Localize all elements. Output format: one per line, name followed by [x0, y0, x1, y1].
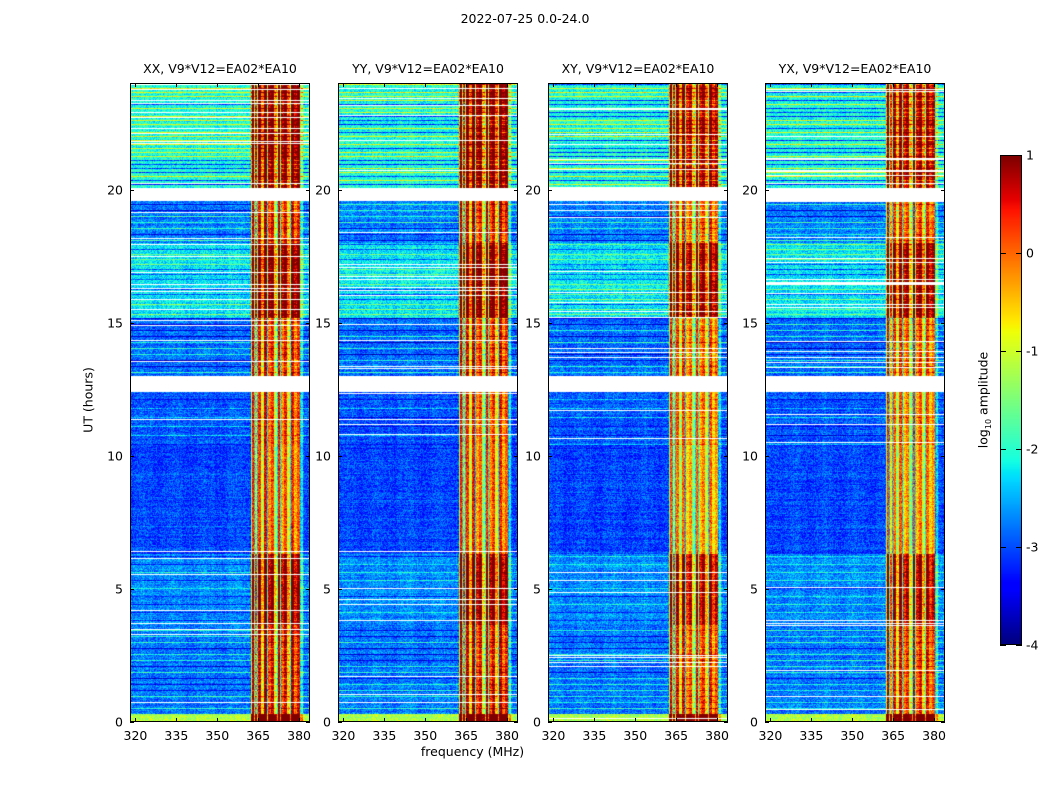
- colorbar-tick-mark: [1000, 155, 1006, 156]
- y-tick-mark: [514, 456, 518, 457]
- colorbar-tick-label: -3: [1026, 540, 1038, 555]
- y-tick-mark: [338, 456, 342, 457]
- x-tick-label: 350: [413, 722, 437, 743]
- x-tick-mark: [507, 83, 508, 87]
- colorbar[interactable]: [1000, 155, 1022, 645]
- colorbar-tick-mark: [1016, 155, 1022, 156]
- x-tick-mark: [466, 83, 467, 87]
- y-tick-label: 20: [315, 182, 338, 197]
- heatmap-image-yy: [339, 84, 517, 721]
- x-tick-mark: [852, 718, 853, 722]
- colorbar-tick-mark: [1016, 547, 1022, 548]
- y-tick-label: 10: [107, 448, 130, 463]
- x-tick-mark: [717, 718, 718, 722]
- x-tick-mark: [343, 718, 344, 722]
- y-tick-label: 20: [742, 182, 765, 197]
- y-tick-mark: [548, 589, 552, 590]
- y-tick-mark: [338, 323, 342, 324]
- y-tick-mark: [548, 323, 552, 324]
- y-tick-label: 10: [742, 448, 765, 463]
- heatmap-image-xx: [131, 84, 309, 721]
- spectrogram-panel-xx[interactable]: XX, V9*V12=EA02*EA1032033535036538005101…: [130, 83, 310, 722]
- colorbar-tick-label: -2: [1026, 442, 1038, 457]
- y-tick-mark: [724, 722, 728, 723]
- x-tick-label: 350: [840, 722, 864, 743]
- colorbar-tick-label: 1: [1026, 148, 1034, 163]
- y-tick-mark: [765, 190, 769, 191]
- y-tick-label: 15: [742, 315, 765, 330]
- x-tick-mark: [770, 718, 771, 722]
- panel-title-yx: YX, V9*V12=EA02*EA10: [765, 61, 945, 76]
- plot-area-xx[interactable]: [130, 83, 310, 722]
- x-tick-mark: [811, 83, 812, 87]
- y-tick-mark: [941, 456, 945, 457]
- colorbar-tick-label: -1: [1026, 344, 1038, 359]
- x-tick-mark: [934, 83, 935, 87]
- x-tick-mark: [893, 83, 894, 87]
- y-tick-mark: [548, 722, 552, 723]
- x-tick-mark: [299, 718, 300, 722]
- figure-suptitle: 2022-07-25 0.0-24.0: [0, 11, 1050, 26]
- x-tick-label: 380: [705, 722, 729, 743]
- y-tick-mark: [724, 589, 728, 590]
- x-tick-label: 365: [246, 722, 270, 743]
- y-tick-mark: [338, 589, 342, 590]
- x-tick-mark: [852, 83, 853, 87]
- y-tick-mark: [941, 589, 945, 590]
- plot-area-yx[interactable]: [765, 83, 945, 722]
- y-tick-label: 10: [525, 448, 548, 463]
- y-tick-label: 15: [315, 315, 338, 330]
- y-tick-mark: [941, 722, 945, 723]
- x-tick-mark: [343, 83, 344, 87]
- x-tick-mark: [717, 83, 718, 87]
- x-tick-label: 365: [664, 722, 688, 743]
- colorbar-label: log10 amplitude: [975, 352, 993, 448]
- y-tick-label: 5: [115, 581, 130, 596]
- x-tick-label: 335: [164, 722, 188, 743]
- y-tick-label: 20: [107, 182, 130, 197]
- spectrogram-panel-xy[interactable]: XY, V9*V12=EA02*EA1032033535036538005101…: [548, 83, 728, 722]
- y-tick-label: 0: [323, 715, 338, 730]
- x-tick-mark: [811, 718, 812, 722]
- x-tick-mark: [553, 83, 554, 87]
- y-tick-label: 10: [315, 448, 338, 463]
- y-tick-mark: [941, 323, 945, 324]
- heatmap-image-xy: [549, 84, 727, 721]
- x-tick-mark: [176, 83, 177, 87]
- colorbar-tick-mark: [1000, 645, 1006, 646]
- y-tick-label: 5: [323, 581, 338, 596]
- x-tick-mark: [635, 83, 636, 87]
- x-tick-mark: [425, 718, 426, 722]
- colorbar-tick-mark: [1000, 253, 1006, 254]
- y-tick-mark: [338, 722, 342, 723]
- y-tick-mark: [130, 323, 134, 324]
- x-tick-mark: [176, 718, 177, 722]
- y-tick-label: 5: [533, 581, 548, 596]
- y-tick-mark: [765, 589, 769, 590]
- y-tick-mark: [514, 722, 518, 723]
- y-tick-mark: [514, 323, 518, 324]
- panel-title-xx: XX, V9*V12=EA02*EA10: [130, 61, 310, 76]
- x-tick-mark: [676, 718, 677, 722]
- x-tick-mark: [893, 718, 894, 722]
- y-tick-mark: [514, 190, 518, 191]
- figure-canvas: 2022-07-25 0.0-24.0 XX, V9*V12=EA02*EA10…: [0, 0, 1050, 800]
- plot-area-yy[interactable]: [338, 83, 518, 722]
- y-tick-mark: [941, 190, 945, 191]
- y-tick-label: 15: [525, 315, 548, 330]
- y-tick-mark: [765, 456, 769, 457]
- x-tick-label: 380: [922, 722, 946, 743]
- x-tick-mark: [135, 718, 136, 722]
- x-tick-mark: [676, 83, 677, 87]
- x-tick-mark: [217, 718, 218, 722]
- colorbar-tick-label: -4: [1026, 638, 1038, 653]
- y-tick-label: 20: [525, 182, 548, 197]
- y-tick-label: 5: [750, 581, 765, 596]
- colorbar-tick-label: 0: [1026, 246, 1034, 261]
- x-tick-label: 365: [454, 722, 478, 743]
- y-tick-mark: [130, 589, 134, 590]
- colorbar-tick-mark: [1016, 351, 1022, 352]
- y-tick-mark: [306, 323, 310, 324]
- colorbar-tick-mark: [1016, 645, 1022, 646]
- y-tick-mark: [724, 456, 728, 457]
- x-tick-label: 380: [495, 722, 519, 743]
- y-tick-mark: [306, 190, 310, 191]
- y-tick-mark: [338, 190, 342, 191]
- y-tick-mark: [306, 456, 310, 457]
- x-tick-mark: [425, 83, 426, 87]
- x-tick-mark: [507, 718, 508, 722]
- panel-title-xy: XY, V9*V12=EA02*EA10: [548, 61, 728, 76]
- y-tick-mark: [514, 589, 518, 590]
- colorbar-tick-mark: [1000, 449, 1006, 450]
- x-tick-mark: [553, 718, 554, 722]
- x-tick-mark: [594, 83, 595, 87]
- y-tick-label: 0: [750, 715, 765, 730]
- colorbar-tick-mark: [1000, 351, 1006, 352]
- x-tick-mark: [299, 83, 300, 87]
- spectrogram-panel-yy[interactable]: YY, V9*V12=EA02*EA1032033535036538005101…: [338, 83, 518, 722]
- colorbar-tick-mark: [1016, 449, 1022, 450]
- x-tick-mark: [135, 83, 136, 87]
- heatmap-image-yx: [766, 84, 944, 721]
- x-tick-label: 350: [205, 722, 229, 743]
- y-tick-label: 0: [533, 715, 548, 730]
- x-tick-label: 335: [372, 722, 396, 743]
- x-tick-mark: [635, 718, 636, 722]
- x-tick-mark: [770, 83, 771, 87]
- y-tick-label: 15: [107, 315, 130, 330]
- y-tick-mark: [130, 722, 134, 723]
- y-tick-label: 0: [115, 715, 130, 730]
- y-tick-mark: [130, 190, 134, 191]
- y-tick-mark: [548, 456, 552, 457]
- x-tick-mark: [258, 83, 259, 87]
- x-tick-mark: [217, 83, 218, 87]
- colorbar-tick-mark: [1000, 547, 1006, 548]
- x-tick-label: 380: [287, 722, 311, 743]
- y-tick-mark: [724, 190, 728, 191]
- x-tick-label: 350: [623, 722, 647, 743]
- x-tick-mark: [466, 718, 467, 722]
- y-tick-mark: [306, 589, 310, 590]
- spectrogram-panel-yx[interactable]: YX, V9*V12=EA02*EA1032033535036538005101…: [765, 83, 945, 722]
- x-tick-mark: [594, 718, 595, 722]
- colorbar-tick-mark: [1016, 253, 1022, 254]
- plot-area-xy[interactable]: [548, 83, 728, 722]
- y-tick-mark: [130, 456, 134, 457]
- y-tick-mark: [765, 722, 769, 723]
- x-tick-mark: [258, 718, 259, 722]
- x-axis-label: frequency (MHz): [0, 744, 945, 759]
- y-tick-mark: [724, 323, 728, 324]
- x-tick-label: 365: [881, 722, 905, 743]
- y-tick-mark: [548, 190, 552, 191]
- y-axis-label: UT (hours): [81, 367, 96, 433]
- x-tick-label: 335: [799, 722, 823, 743]
- x-tick-label: 335: [582, 722, 606, 743]
- y-tick-mark: [306, 722, 310, 723]
- x-tick-mark: [384, 718, 385, 722]
- x-tick-mark: [934, 718, 935, 722]
- y-tick-mark: [765, 323, 769, 324]
- x-tick-mark: [384, 83, 385, 87]
- panel-title-yy: YY, V9*V12=EA02*EA10: [338, 61, 518, 76]
